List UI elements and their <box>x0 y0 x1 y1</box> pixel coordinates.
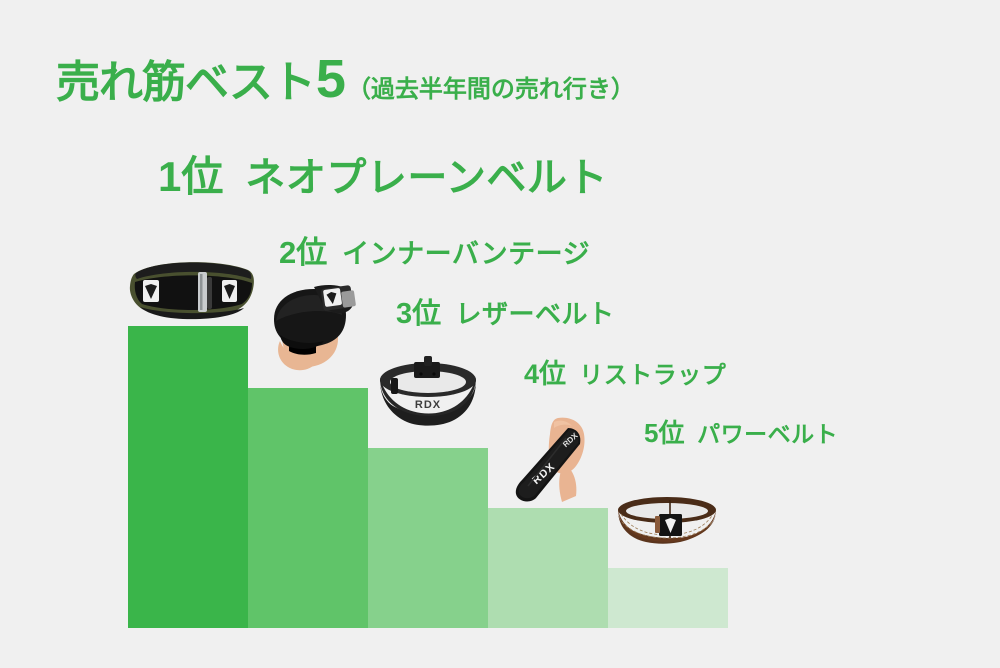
rank-product-5: パワーベルト <box>697 423 838 446</box>
page-title: 売れ筋ベスト 5 （過去半年間の売れ行き） <box>56 52 635 106</box>
bar-rank-5 <box>608 568 728 628</box>
product-image-power-belt <box>612 492 722 558</box>
rank-product-1: ネオプレーンベルト <box>245 158 608 198</box>
product-image-neoprene-belt <box>122 244 262 330</box>
bar-rank-4 <box>488 508 608 628</box>
ranking-infographic: 売れ筋ベスト 5 （過去半年間の売れ行き） 1位 ネオプレーンベルト 2位 イン… <box>0 0 1000 668</box>
rank-label-2: 2位 インナーバンテージ <box>279 237 590 268</box>
page-subtitle: （過去半年間の売れ行き） <box>347 78 635 102</box>
rank-position-4: 4位 <box>524 361 566 388</box>
bar-rank-3 <box>368 448 488 628</box>
page-title-text: 売れ筋ベスト <box>56 61 315 105</box>
rank-label-1: 1位 ネオプレーンベルト <box>158 156 608 198</box>
rank-position-5: 5位 <box>644 420 684 446</box>
rank-label-5: 5位 パワーベルト <box>644 420 838 446</box>
svg-text:RDX: RDX <box>415 399 441 411</box>
product-image-inner-bandage-glove <box>258 279 362 383</box>
rank-product-2: インナーバンテージ <box>342 241 590 268</box>
rank-product-3: レザーベルト <box>455 301 614 327</box>
rank-product-4: リストラップ <box>579 364 726 388</box>
product-image-leather-belt: RDX <box>367 352 489 440</box>
page-title-number: 5 <box>316 52 346 106</box>
product-image-wrist-wrap: RDX RDX <box>506 406 610 510</box>
rank-label-4: 4位 リストラップ <box>524 361 726 388</box>
rank-position-1: 1位 <box>158 156 223 198</box>
rank-position-3: 3位 <box>396 300 441 329</box>
rank-position-2: 2位 <box>279 237 327 268</box>
rank-label-3: 3位 レザーベルト <box>396 300 614 329</box>
bar-rank-1 <box>128 326 248 628</box>
bar-rank-2 <box>248 388 368 628</box>
